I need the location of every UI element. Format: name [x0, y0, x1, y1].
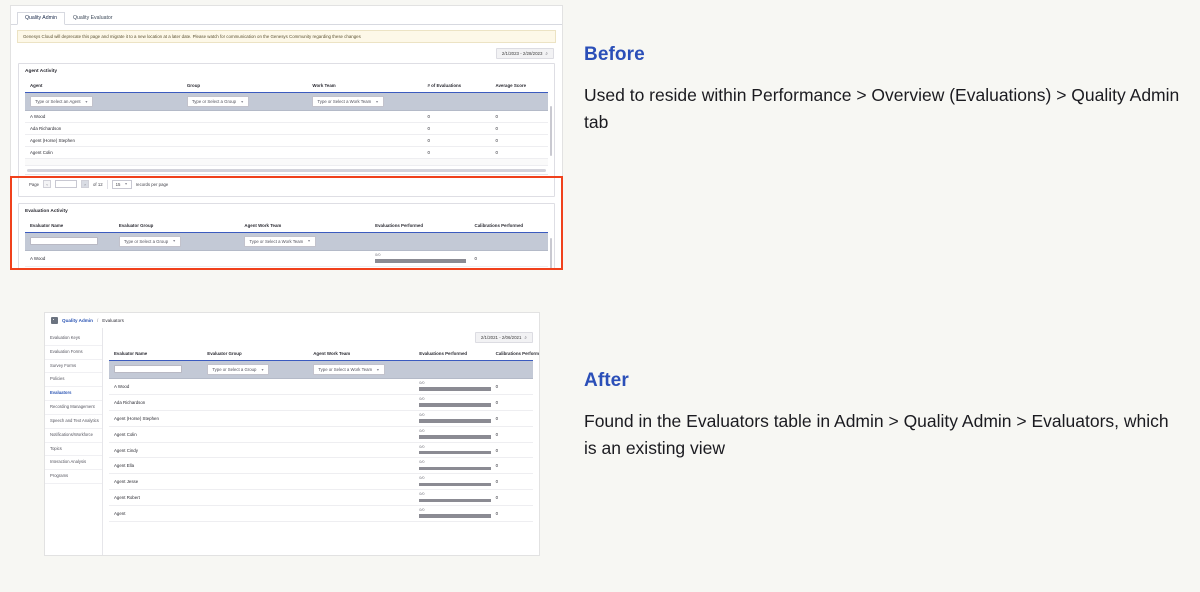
sidebar-item-topics[interactable]: Topics	[45, 443, 102, 457]
evaluations-performed-meter: 0/0	[419, 477, 490, 486]
deprecation-notice: Genesys Cloud will deprecate this page a…	[17, 30, 556, 43]
evaluations-performed-value: 0/0	[419, 398, 490, 402]
col-calibrations-performed: Calibrations Performed	[491, 347, 533, 361]
filter-cell-evaluator-group: Type or Select a Group ▼	[202, 361, 308, 379]
after-screenshot: Quality Admin / Evaluators Evaluation Ke…	[44, 312, 540, 556]
filter-cell-evaluator-group: Type or Select a Group ▼	[114, 232, 240, 250]
filter-cell-evaluations	[422, 93, 490, 111]
evaluator-work-team	[308, 379, 414, 395]
evaluator-work-team	[308, 442, 414, 458]
sidebar-item-policies[interactable]: Policies	[45, 373, 102, 387]
filter-row: Type or Select a Group ▼ Type or Select …	[25, 232, 548, 250]
before-body-text: Used to reside within Performance > Over…	[584, 82, 1184, 136]
chevron-down-icon: ▼	[261, 368, 265, 372]
meter-fill	[419, 467, 490, 471]
breadcrumb-current: Evaluators	[102, 318, 124, 323]
sidebar-item-evaluators[interactable]: Evaluators	[45, 387, 102, 401]
agent-group	[182, 123, 308, 135]
evaluator-work-team	[308, 506, 414, 522]
agent-work-team-select-label: Type or Select a Work Team	[318, 367, 372, 372]
sidebar-item-programs[interactable]: Programs	[45, 470, 102, 484]
date-filter-row: 2/1/2021 - 2/06/2021 ⌕	[109, 332, 533, 343]
table-row[interactable]: Agent (Horse) Stephen 0 0	[25, 135, 548, 147]
col-agent: Agent	[25, 79, 182, 93]
evaluations-performed-meter: 0/0	[419, 446, 490, 455]
table-row[interactable]: Agent Cindy0/00	[109, 442, 533, 458]
agent-average-score: 0	[490, 123, 548, 135]
after-body-text: Found in the Evaluators table in Admin >…	[584, 408, 1184, 462]
col-evaluations-performed: Evaluations Performed	[370, 219, 469, 233]
group-select-label: Type or Select a Group	[192, 99, 236, 104]
table-header-row: Agent Group Work Team # of Evaluations A…	[25, 79, 548, 93]
date-filter-row: 2/1/2023 - 2/28/2023 ⌕	[11, 43, 562, 63]
meter-track	[419, 499, 490, 503]
evaluator-group	[202, 474, 308, 490]
calibrations-performed: 0	[491, 506, 533, 522]
breadcrumb: Quality Admin / Evaluators	[45, 313, 539, 328]
evaluator-name-link[interactable]: Agent Colin	[109, 426, 202, 442]
calibrations-performed: 0	[491, 426, 533, 442]
agent-select[interactable]: Type or Select an Agent ▼	[30, 96, 93, 107]
agent-work-team-select[interactable]: Type or Select a Work Team ▼	[244, 236, 315, 247]
records-per-page-label: records per page	[136, 182, 169, 187]
magnifier-icon: ⌕	[524, 335, 527, 340]
agent-work-team	[307, 111, 422, 123]
evaluations-performed-meter: 0/0	[419, 430, 490, 439]
calibrations-performed: 0	[470, 266, 548, 270]
evaluations-performed-cell: 0/0	[414, 442, 490, 458]
date-range-filter[interactable]: 2/1/2021 - 2/06/2021 ⌕	[475, 332, 533, 343]
filter-cell-calibrations-performed	[491, 361, 533, 379]
evaluations-performed-cell: 0/0	[414, 394, 490, 410]
evaluation-activity-table: Evaluator Name Evaluator Group Agent Wor…	[25, 219, 548, 270]
evaluations-performed-value: 0/0	[419, 430, 490, 434]
evaluation-activity-title: Evaluation Activity	[25, 209, 548, 214]
col-num-evaluations: # of Evaluations	[422, 79, 490, 93]
breadcrumb-root[interactable]: Quality Admin	[62, 318, 93, 323]
meter-fill	[419, 387, 490, 391]
magnifier-icon: ⌕	[545, 51, 548, 56]
filter-cell-work-team: Type or Select a Work Team ▼	[307, 93, 422, 111]
evaluator-group	[202, 458, 308, 474]
empty-cell	[25, 159, 182, 166]
page-number-input[interactable]	[55, 180, 77, 188]
evaluations-performed-cell: 0/0	[414, 474, 490, 490]
evaluations-performed-value: 0/0	[419, 382, 490, 386]
page-size-value: 15	[116, 182, 121, 187]
filter-cell-average-score	[490, 93, 548, 111]
table-header-row: Evaluator Name Evaluator Group Agent Wor…	[25, 219, 548, 233]
table-row[interactable]: Agent (Horse) Stephen0/00	[109, 410, 533, 426]
evaluator-name-link[interactable]: Agent Jesse	[109, 474, 202, 490]
meter-fill	[419, 403, 490, 407]
evaluations-performed-meter: 0/0	[375, 254, 465, 263]
empty-cell	[490, 159, 548, 166]
app-grid-icon[interactable]	[51, 317, 58, 324]
table-row[interactable]: Agent Robert0/00	[109, 490, 533, 506]
col-calibrations-performed: Calibrations Performed	[470, 219, 548, 233]
meter-track	[419, 387, 490, 391]
table-row[interactable]: Ada Richardson0/00	[109, 394, 533, 410]
table-row[interactable]: Agent0/00	[109, 506, 533, 522]
table-row[interactable]: Ada Richardson 0/0 0	[25, 266, 548, 270]
table-row[interactable]: A Wood 0/0 0	[25, 250, 548, 266]
evaluations-performed-value: 0/0	[419, 446, 490, 450]
evaluations-performed-meter: 0/0	[419, 509, 490, 518]
evaluator-name-link[interactable]: Ada Richardson	[109, 394, 202, 410]
evaluator-group-select-label: Type or Select a Group	[124, 239, 168, 244]
evaluator-group-select[interactable]: Type or Select a Group ▼	[207, 364, 269, 375]
table-vertical-scrollbar[interactable]	[550, 238, 553, 270]
col-evaluations-performed: Evaluations Performed	[414, 347, 490, 361]
empty-cell	[307, 159, 422, 166]
page-total-label: of 12	[93, 182, 103, 187]
pagination: Page ‹ › of 12 15 ▼ records per page	[25, 174, 548, 190]
meter-track	[419, 451, 490, 455]
evaluator-name-link[interactable]: Agent Robert	[109, 490, 202, 506]
evaluator-group-select-label: Type or Select a Group	[212, 367, 256, 372]
chevron-down-icon: ▼	[85, 100, 89, 104]
table-horizontal-scrollbar[interactable]	[27, 169, 546, 172]
agent-average-score: 0	[490, 147, 548, 159]
chevron-down-icon: ▼	[376, 368, 380, 372]
work-team-select[interactable]: Type or Select a Work Team ▼	[312, 96, 383, 107]
chevron-down-icon: ▼	[240, 100, 244, 104]
table-vertical-scrollbar[interactable]	[550, 106, 553, 156]
evaluator-group	[202, 410, 308, 426]
filter-cell-evaluations-performed	[370, 232, 469, 250]
tab-quality-evaluator[interactable]: Quality Evaluator	[65, 12, 121, 24]
evaluator-name-link[interactable]: A Wood	[109, 379, 202, 395]
sidebar-item-notifications-workforce[interactable]: Notifications/Workforce	[45, 429, 102, 443]
filter-cell-evaluator-name	[109, 361, 202, 379]
prev-page-button[interactable]: ‹	[43, 180, 51, 188]
meter-fill	[419, 499, 490, 503]
chevron-down-icon: ▼	[375, 100, 379, 104]
calibrations-performed: 0	[491, 410, 533, 426]
meter-fill	[419, 435, 490, 439]
agent-activity-table: Agent Group Work Team # of Evaluations A…	[25, 79, 548, 166]
sidebar-item-evaluation-forms[interactable]: Evaluation Forms	[45, 346, 102, 360]
sidebar-item-evaluation-keys[interactable]: Evaluation Keys	[45, 332, 102, 346]
agent-group	[182, 135, 308, 147]
evaluations-performed-cell: 0/0	[414, 490, 490, 506]
calibrations-performed: 0	[491, 394, 533, 410]
table-row[interactable]: Agent Jesse0/00	[109, 474, 533, 490]
col-evaluator-name: Evaluator Name	[25, 219, 114, 233]
evaluations-performed-cell: 0/0	[414, 410, 490, 426]
agent-work-team	[307, 135, 422, 147]
admin-sidebar: Evaluation Keys Evaluation Forms Survey …	[45, 328, 103, 555]
filter-cell-agent-work-team: Type or Select a Work Team ▼	[239, 232, 370, 250]
tab-bar: Quality Admin Quality Evaluator	[11, 6, 562, 25]
after-heading: After	[584, 370, 1184, 392]
col-evaluator-name: Evaluator Name	[109, 347, 202, 361]
empty-cell	[422, 159, 490, 166]
filter-row: Type or Select an Agent ▼ Type or Select…	[25, 93, 548, 111]
meter-fill	[375, 259, 465, 263]
agent-activity-panel: Agent Activity Agent Group Work Team # o…	[18, 63, 555, 197]
agent-work-team	[307, 123, 422, 135]
agent-evaluations: 0	[422, 135, 490, 147]
filter-row: Type or Select a Group ▼ Type or Select …	[109, 361, 533, 379]
agent-name-link[interactable]: Ada Richardson	[25, 123, 182, 135]
evaluator-work-team	[308, 410, 414, 426]
agent-average-score: 0	[490, 135, 548, 147]
before-annotation: Before Used to reside within Performance…	[584, 44, 1184, 136]
evaluator-group	[202, 394, 308, 410]
agent-name-link[interactable]: Agent (Horse) Stephen	[25, 135, 182, 147]
col-work-team: Work Team	[307, 79, 422, 93]
evaluator-name-link[interactable]: Ada Richardson	[25, 266, 114, 270]
meter-fill	[419, 451, 490, 455]
page-size-select[interactable]: 15 ▼	[112, 180, 132, 189]
meter-fill	[419, 483, 490, 487]
evaluations-performed-value: 0/0	[419, 477, 490, 481]
meter-track	[419, 419, 490, 423]
col-evaluator-group: Evaluator Group	[202, 347, 308, 361]
empty-cell	[182, 159, 308, 166]
evaluations-performed-value: 0/0	[419, 493, 490, 497]
filter-cell-agent-work-team: Type or Select a Work Team ▼	[308, 361, 414, 379]
evaluators-table: Evaluator Name Evaluator Group Agent Wor…	[109, 347, 533, 522]
calibrations-performed: 0	[491, 490, 533, 506]
table-row-partial	[25, 159, 548, 166]
before-heading: Before	[584, 44, 1184, 66]
table-row[interactable]: Agent Colin0/00	[109, 426, 533, 442]
meter-track	[419, 403, 490, 407]
evaluations-performed-cell: 0/0	[414, 426, 490, 442]
meter-fill	[419, 514, 490, 518]
group-select[interactable]: Type or Select a Group ▼	[187, 96, 249, 107]
tab-quality-admin[interactable]: Quality Admin	[17, 12, 65, 25]
evaluator-group	[114, 250, 240, 266]
next-page-button[interactable]: ›	[81, 180, 89, 188]
filter-cell-calibrations-performed	[470, 232, 548, 250]
sidebar-item-interaction-analysis[interactable]: Interaction Analysis	[45, 456, 102, 470]
evaluator-work-team	[239, 266, 370, 270]
date-range-filter[interactable]: 2/1/2023 - 2/28/2023 ⌕	[496, 48, 554, 59]
agent-group	[182, 147, 308, 159]
agent-evaluations: 0	[422, 111, 490, 123]
meter-track	[419, 467, 490, 471]
evaluator-work-team	[308, 474, 414, 490]
before-screenshot: Quality Admin Quality Evaluator Genesys …	[10, 5, 563, 270]
page-label: Page	[29, 182, 39, 187]
col-agent-work-team: Agent Work Team	[239, 219, 370, 233]
pager-divider	[107, 180, 108, 189]
evaluations-performed-meter: 0/0	[419, 382, 490, 391]
evaluations-performed-meter: 0/0	[419, 493, 490, 502]
filter-cell-evaluations-performed	[414, 361, 490, 379]
evaluators-main: 2/1/2021 - 2/06/2021 ⌕ Evaluator Name Ev…	[103, 328, 539, 555]
meter-track	[419, 514, 490, 518]
agent-name-link[interactable]: A Wood	[25, 111, 182, 123]
sidebar-item-speech-and-text-analytics[interactable]: Speech and Text Analytics	[45, 415, 102, 429]
evaluator-group	[114, 266, 240, 270]
table-row[interactable]: Agent Colin 0 0	[25, 147, 548, 159]
table-row[interactable]: A Wood0/00	[109, 379, 533, 395]
evaluations-performed-value: 0/0	[419, 461, 490, 465]
agent-group	[182, 111, 308, 123]
table-header-row: Evaluator Name Evaluator Group Agent Wor…	[109, 347, 533, 361]
meter-fill	[419, 419, 490, 423]
evaluator-name-input[interactable]	[30, 237, 98, 245]
meter-track	[419, 435, 490, 439]
evaluator-work-team	[308, 458, 414, 474]
evaluator-group-select[interactable]: Type or Select a Group ▼	[119, 236, 181, 247]
evaluator-work-team	[308, 426, 414, 442]
evaluator-group	[202, 426, 308, 442]
filter-cell-agent: Type or Select an Agent ▼	[25, 93, 182, 111]
evaluations-performed-cell: 0/0	[414, 379, 490, 395]
agent-evaluations: 0	[422, 147, 490, 159]
chevron-down-icon: ▼	[172, 239, 176, 243]
evaluations-performed-value: 0/0	[375, 254, 465, 258]
calibrations-performed: 0	[491, 474, 533, 490]
evaluations-performed-meter: 0/0	[419, 414, 490, 423]
filter-cell-group: Type or Select a Group ▼	[182, 93, 308, 111]
evaluator-name-link[interactable]: A Wood	[25, 250, 114, 266]
evaluator-work-team	[308, 490, 414, 506]
date-range-value: 2/1/2023 - 2/28/2023	[502, 51, 543, 56]
evaluator-group	[202, 490, 308, 506]
evaluations-performed-value: 0/0	[419, 414, 490, 418]
filter-cell-evaluator-name	[25, 232, 114, 250]
agent-average-score: 0	[490, 111, 548, 123]
evaluator-name-link[interactable]: Agent (Horse) Stephen	[109, 410, 202, 426]
agent-evaluations: 0	[422, 123, 490, 135]
date-range-value: 2/1/2021 - 2/06/2021	[481, 335, 522, 340]
evaluations-performed-cell: 0/0	[414, 506, 490, 522]
evaluator-name-link[interactable]: Agent Ella	[109, 458, 202, 474]
col-average-score: Average Score	[490, 79, 548, 93]
evaluations-performed-meter: 0/0	[419, 461, 490, 470]
table-row[interactable]: A Wood 0 0	[25, 111, 548, 123]
evaluations-performed-cell: 0/0	[370, 250, 469, 266]
evaluator-work-team	[239, 250, 370, 266]
evaluations-performed-cell: 0/0	[370, 266, 469, 270]
evaluation-activity-panel: Evaluation Activity Evaluator Name Evalu…	[18, 203, 555, 270]
agent-work-team-select[interactable]: Type or Select a Work Team ▼	[313, 364, 384, 375]
agent-activity-title: Agent Activity	[25, 69, 548, 74]
agent-work-team	[307, 147, 422, 159]
evaluator-group	[202, 442, 308, 458]
agent-name-link[interactable]: Agent Colin	[25, 147, 182, 159]
table-row[interactable]: Ada Richardson 0 0	[25, 123, 548, 135]
col-evaluator-group: Evaluator Group	[114, 219, 240, 233]
agent-select-label: Type or Select an Agent	[35, 99, 81, 104]
evaluator-name-input[interactable]	[114, 365, 182, 373]
calibrations-performed: 0	[470, 250, 548, 266]
calibrations-performed: 0	[491, 442, 533, 458]
col-group: Group	[182, 79, 308, 93]
evaluations-performed-value: 0/0	[419, 509, 490, 513]
sidebar-item-survey-forms[interactable]: Survey Forms	[45, 360, 102, 374]
meter-track	[375, 259, 465, 263]
evaluations-performed-meter: 0/0	[419, 398, 490, 407]
chevron-down-icon: ▼	[307, 239, 311, 243]
evaluator-work-team	[308, 394, 414, 410]
calibrations-performed: 0	[491, 458, 533, 474]
evaluator-group	[202, 506, 308, 522]
evaluator-name-link[interactable]: Agent Cindy	[109, 442, 202, 458]
evaluator-group	[202, 379, 308, 395]
col-agent-work-team: Agent Work Team	[308, 347, 414, 361]
breadcrumb-separator: /	[97, 318, 98, 323]
table-row[interactable]: Agent Ella0/00	[109, 458, 533, 474]
calibrations-performed: 0	[491, 379, 533, 395]
meter-track	[419, 483, 490, 487]
agent-work-team-select-label: Type or Select a Work Team	[249, 239, 303, 244]
after-annotation: After Found in the Evaluators table in A…	[584, 370, 1184, 462]
after-body: Evaluation Keys Evaluation Forms Survey …	[45, 328, 539, 555]
evaluator-name-link[interactable]: Agent	[109, 506, 202, 522]
work-team-select-label: Type or Select a Work Team	[317, 99, 371, 104]
chevron-down-icon: ▼	[124, 182, 127, 186]
sidebar-item-recording-management[interactable]: Recording Management	[45, 401, 102, 415]
evaluations-performed-cell: 0/0	[414, 458, 490, 474]
